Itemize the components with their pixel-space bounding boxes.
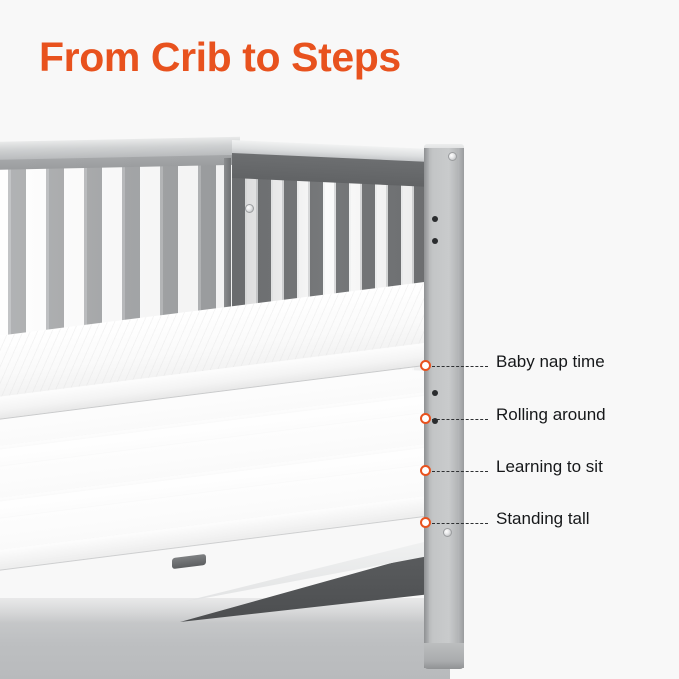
screw-icon bbox=[443, 528, 452, 537]
product-image bbox=[0, 128, 500, 679]
crib-foot-left bbox=[172, 554, 206, 569]
callout-marker-4[interactable] bbox=[420, 517, 431, 528]
callout-label-1: Baby nap time bbox=[496, 352, 605, 372]
adjustment-hole-icon bbox=[432, 390, 438, 396]
callout-leader-4 bbox=[432, 523, 488, 524]
callout-leader-1 bbox=[432, 366, 488, 367]
callout-label-4: Standing tall bbox=[496, 509, 590, 529]
product-infographic: From Crib to Steps bbox=[0, 0, 679, 679]
callout-label-3: Learning to sit bbox=[496, 457, 603, 477]
callout-marker-1[interactable] bbox=[420, 360, 431, 371]
screw-icon bbox=[245, 204, 254, 213]
crib-post-outer-edge bbox=[458, 148, 464, 668]
page-title: From Crib to Steps bbox=[39, 34, 401, 81]
callout-marker-2[interactable] bbox=[420, 413, 431, 424]
adjustment-hole-icon bbox=[432, 216, 438, 222]
crib-post-inner-edge bbox=[424, 148, 429, 668]
adjustment-hole-icon bbox=[432, 238, 438, 244]
crib-post-foot bbox=[424, 643, 464, 669]
callout-leader-2 bbox=[432, 419, 488, 420]
screw-icon bbox=[448, 152, 457, 161]
callout-leader-3 bbox=[432, 471, 488, 472]
callout-marker-3[interactable] bbox=[420, 465, 431, 476]
callout-label-2: Rolling around bbox=[496, 405, 606, 425]
